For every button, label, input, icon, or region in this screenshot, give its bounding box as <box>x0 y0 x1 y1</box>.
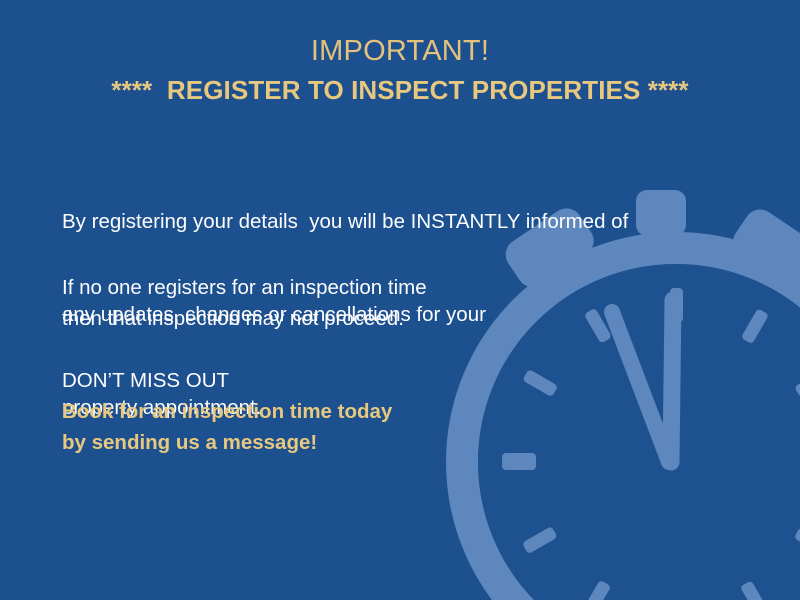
page-title-register: **** REGISTER TO INSPECT PROPERTIES **** <box>0 71 800 109</box>
paragraph-one-line-1: By registering your details you will be … <box>62 206 722 237</box>
cta-dont-miss-out: DON’T MISS OUT <box>62 365 582 396</box>
cta-send-message: by sending us a message! <box>62 427 582 458</box>
paragraph-two: If no one registers for an inspection ti… <box>62 272 622 334</box>
slide-canvas: IMPORTANT! **** REGISTER TO INSPECT PROP… <box>0 0 800 600</box>
page-title-important: IMPORTANT! <box>0 31 800 71</box>
content-layer: IMPORTANT! **** REGISTER TO INSPECT PROP… <box>0 0 800 600</box>
call-to-action-block: DON’T MISS OUT Book for an inspection ti… <box>62 365 582 458</box>
paragraph-two-line-1: If no one registers for an inspection ti… <box>62 272 622 303</box>
heading-block: IMPORTANT! **** REGISTER TO INSPECT PROP… <box>0 31 800 109</box>
paragraph-two-line-2: then that inspection may not proceed. <box>62 303 622 334</box>
cta-book-inspection: Book for an inspection time today <box>62 396 582 427</box>
